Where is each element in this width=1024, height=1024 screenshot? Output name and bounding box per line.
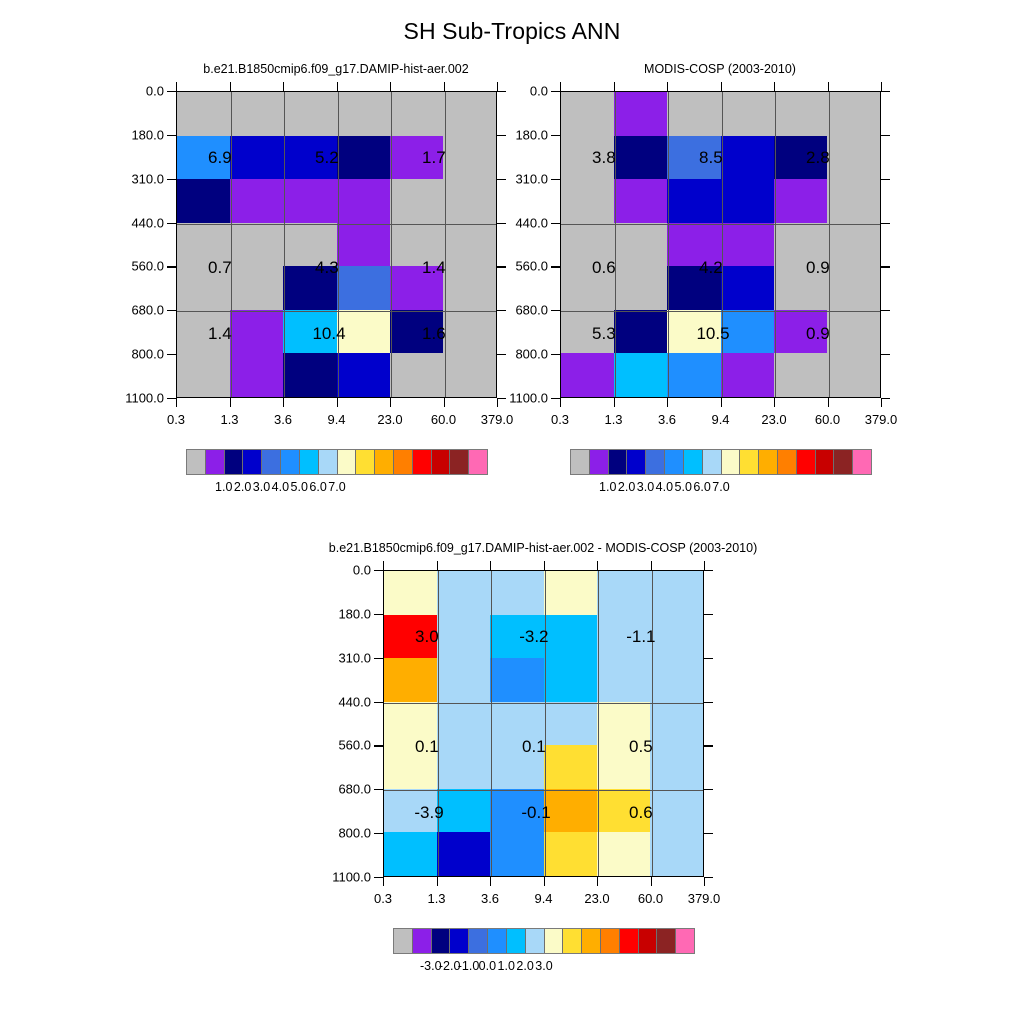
- x-axis-label: 379.0: [688, 891, 721, 906]
- x-axis-tick-top: [560, 82, 561, 91]
- x-axis-label: 23.0: [761, 412, 786, 427]
- cell-value-label: 1.4: [208, 324, 232, 344]
- cell-value-label: -1.1: [626, 627, 655, 647]
- heatmap-cell: [337, 92, 390, 136]
- y-axis-label: 440.0: [86, 215, 164, 230]
- x-axis-label: 0.3: [551, 412, 569, 427]
- x-axis-tick: [283, 398, 284, 407]
- heatmap-cell: [827, 266, 880, 310]
- x-axis-tick-top: [704, 561, 705, 570]
- colorbar-swatch-light-yellow: [545, 929, 564, 953]
- colorbar-swatch-pink: [853, 450, 871, 474]
- y-axis-tick: [167, 179, 176, 180]
- heatmap-cell: [614, 223, 667, 267]
- heatmap-cell: [490, 658, 543, 702]
- y-axis-label: 800.0: [86, 347, 164, 362]
- y-axis-tick: [374, 658, 383, 659]
- x-axis-tick-top: [437, 561, 438, 570]
- colorbar-tick-label: 3.0: [637, 480, 654, 494]
- cell-value-label: 0.5: [629, 737, 653, 757]
- x-axis-tick-top: [337, 82, 338, 91]
- x-axis-label: 23.0: [377, 412, 402, 427]
- cell-value-label: 10.4: [312, 324, 345, 344]
- x-axis-tick-top: [490, 561, 491, 570]
- y-axis-tick: [374, 745, 383, 746]
- y-axis-label: 680.0: [293, 782, 371, 797]
- x-axis-label: 1.3: [427, 891, 445, 906]
- colorbar-swatch-gray: [394, 929, 413, 953]
- colorbar-swatch-deep-sky-blue: [300, 450, 319, 474]
- y-axis-tick: [551, 179, 560, 180]
- colorbar-swatch-yellow: [563, 929, 582, 953]
- x-axis-tick-top: [721, 82, 722, 91]
- heatmap-cell: [597, 832, 650, 876]
- colorbar-swatch-pink: [469, 450, 487, 474]
- x-axis-tick-top: [667, 82, 668, 91]
- colorbar-swatch-orange: [778, 450, 797, 474]
- heatmap-cell: [721, 223, 774, 267]
- x-axis-tick: [881, 398, 882, 407]
- heatmap-cell: [721, 92, 774, 136]
- y-axis-label: 680.0: [470, 303, 548, 318]
- figure-title: SH Sub-Tropics ANN: [0, 18, 1024, 45]
- colorbar-tick-label: 2.0: [234, 480, 251, 494]
- cell-value-label: 10.5: [696, 324, 729, 344]
- x-axis-tick: [560, 398, 561, 407]
- heatmap-cell: [337, 223, 390, 267]
- y-axis-tick: [551, 354, 560, 355]
- heatmap-cell: [230, 310, 283, 354]
- colorbar-swatch-amber: [375, 450, 394, 474]
- x-axis-tick: [651, 877, 652, 886]
- y-axis-tick-inner: [704, 614, 713, 615]
- x-axis-tick: [721, 398, 722, 407]
- heatmap-cell: [230, 353, 283, 397]
- heatmap-cell: [827, 310, 880, 354]
- y-axis-label: 800.0: [293, 826, 371, 841]
- colorbar-swatch-blue: [450, 929, 469, 953]
- x-axis-tick: [614, 398, 615, 407]
- y-axis-tick: [551, 91, 560, 92]
- colorbar-swatch-brick: [657, 929, 676, 953]
- heatmap-cell: [337, 266, 390, 310]
- x-axis-label: 23.0: [584, 891, 609, 906]
- heatmap-cell: [597, 658, 650, 702]
- cell-value-label: 3.8: [592, 148, 616, 168]
- colorbar-swatch-royal-blue: [646, 450, 665, 474]
- y-axis-tick: [551, 266, 560, 267]
- heatmap-cell: [827, 92, 880, 136]
- heatmap-cell: [544, 745, 597, 789]
- heatmap-cell: [177, 179, 230, 223]
- x-axis-label: 60.0: [431, 412, 456, 427]
- heatmap-cell: [614, 92, 667, 136]
- x-axis-label: 3.6: [274, 412, 292, 427]
- colorbar-tick-label: 1.0: [498, 959, 515, 973]
- x-axis-tick: [337, 398, 338, 407]
- heatmap-cell: [827, 223, 880, 267]
- cell-value-label: 0.7: [208, 258, 232, 278]
- y-axis-label: 680.0: [86, 303, 164, 318]
- heatmap-cell: [650, 745, 703, 789]
- x-axis-tick-top: [774, 82, 775, 91]
- y-axis-tick: [167, 310, 176, 311]
- y-axis-label: 180.0: [86, 127, 164, 142]
- heatmap-cell: [230, 223, 283, 267]
- x-axis-tick-top: [230, 82, 231, 91]
- heatmap-cell: [490, 832, 543, 876]
- heatmap-cell: [384, 832, 437, 876]
- x-axis-tick-top: [651, 561, 652, 570]
- heatmap-cell: [437, 789, 490, 833]
- x-axis-label: 379.0: [865, 412, 898, 427]
- colorbar-swatch-dodger-blue: [665, 450, 684, 474]
- heatmap-cell: [390, 92, 443, 136]
- colorbar-swatch-orange: [394, 450, 413, 474]
- x-axis-tick: [176, 398, 177, 407]
- cell-value-label: 0.6: [592, 258, 616, 278]
- plot-area-model: [176, 91, 497, 398]
- colorbar-tick-label: 1.0: [215, 480, 232, 494]
- colorbar-swatch-amber: [582, 929, 601, 953]
- colorbar-swatch-pink: [676, 929, 694, 953]
- heatmap-cell: [384, 571, 437, 615]
- x-axis-tick-top: [544, 561, 545, 570]
- y-axis-label: 440.0: [470, 215, 548, 230]
- colorbar-tick-label: 6.0: [309, 480, 326, 494]
- cell-value-label: 0.1: [415, 737, 439, 757]
- cell-value-label: 0.9: [806, 258, 830, 278]
- heatmap-cell: [827, 353, 880, 397]
- colorbar-swatch-dodger-blue: [488, 929, 507, 953]
- heatmap-cell: [437, 832, 490, 876]
- colorbar-swatch-red: [620, 929, 639, 953]
- y-axis-tick-inner: [704, 702, 713, 703]
- y-axis-label: 560.0: [470, 259, 548, 274]
- y-axis-label: 1100.0: [470, 391, 548, 406]
- heatmap-cell: [437, 658, 490, 702]
- y-axis-label: 310.0: [293, 650, 371, 665]
- y-axis-tick: [551, 223, 560, 224]
- cell-value-label: 1.6: [422, 324, 446, 344]
- x-axis-tick: [444, 398, 445, 407]
- cell-value-label: 0.6: [629, 803, 653, 823]
- heatmap-cell: [544, 702, 597, 746]
- cell-value-label: 0.9: [806, 324, 830, 344]
- y-axis-label: 560.0: [293, 738, 371, 753]
- y-axis-label: 560.0: [86, 259, 164, 274]
- y-axis-label: 440.0: [293, 694, 371, 709]
- heatmap-cell: [614, 266, 667, 310]
- x-axis-tick: [490, 877, 491, 886]
- colorbar-swatch-yellow: [356, 450, 375, 474]
- heatmap-cell: [177, 92, 230, 136]
- heatmap-cell: [544, 789, 597, 833]
- colorbar-swatch-red: [413, 450, 432, 474]
- heatmap-cell: [283, 179, 336, 223]
- cell-value-label: 1.4: [422, 258, 446, 278]
- heatmap-cell: [774, 179, 827, 223]
- cell-value-label: 4.3: [315, 258, 339, 278]
- colorbar-tick-label: 2.0: [618, 480, 635, 494]
- heatmap-cell: [597, 571, 650, 615]
- colorbar-swatch-brick: [450, 450, 469, 474]
- y-axis-tick-inner: [881, 266, 890, 267]
- heatmap-cell: [230, 266, 283, 310]
- heatmap-cells-difference: [384, 571, 703, 876]
- y-axis-tick-inner: [881, 223, 890, 224]
- heatmap-cell: [667, 92, 720, 136]
- colorbar-swatch-navy: [225, 450, 244, 474]
- x-axis-label: 9.4: [534, 891, 552, 906]
- x-axis-tick-top: [597, 561, 598, 570]
- colorbar-tick-label: 6.0: [693, 480, 710, 494]
- colorbar-swatch-purple: [206, 450, 225, 474]
- heatmap-cell: [177, 353, 230, 397]
- x-axis-tick-top: [444, 82, 445, 91]
- heatmap-cell: [650, 832, 703, 876]
- heatmap-cell: [437, 571, 490, 615]
- y-axis-label: 0.0: [86, 84, 164, 99]
- heatmap-cell: [337, 179, 390, 223]
- heatmap-cell: [390, 353, 443, 397]
- y-axis-label: 800.0: [470, 347, 548, 362]
- colorbar-tick-label: 2.0: [516, 959, 533, 973]
- heatmap-cell: [230, 179, 283, 223]
- cell-value-label: -3.2: [519, 627, 548, 647]
- y-axis-tick: [374, 877, 383, 878]
- heatmap-cell: [437, 615, 490, 659]
- heatmap-cell: [721, 353, 774, 397]
- cell-value-label: 8.5: [699, 148, 723, 168]
- heatmap-cell: [614, 353, 667, 397]
- panel-title-difference: b.e21.B1850cmip6.f09_g17.DAMIP-hist-aer.…: [31, 541, 1024, 555]
- x-axis-tick: [230, 398, 231, 407]
- cell-value-label: -3.9: [414, 803, 443, 823]
- x-axis-tick: [390, 398, 391, 407]
- colorbar-swatch-dodger-blue: [281, 450, 300, 474]
- heatmap-cells-model: [177, 92, 496, 397]
- colorbar-swatch-navy: [609, 450, 628, 474]
- colorbar-swatch-dark-red: [816, 450, 835, 474]
- colorbar-swatch-light-blue: [319, 450, 338, 474]
- cell-value-label: 5.3: [592, 324, 616, 344]
- y-axis-tick-inner: [704, 745, 713, 746]
- colorbar-swatch-dark-red: [639, 929, 658, 953]
- heatmap-cell: [774, 92, 827, 136]
- x-axis-tick: [383, 877, 384, 886]
- y-axis-tick-inner: [881, 91, 890, 92]
- y-axis-tick-inner: [881, 398, 890, 399]
- colorbar-swatch-light-blue: [526, 929, 545, 953]
- cell-value-label: 1.7: [422, 148, 446, 168]
- cell-value-label: 3.0: [415, 627, 439, 647]
- colorbar-tick-label: -1.0: [458, 959, 480, 973]
- y-axis-label: 0.0: [293, 563, 371, 578]
- y-axis-tick-inner: [704, 877, 713, 878]
- colorbar-swatch-blue: [627, 450, 646, 474]
- x-axis-label: 3.6: [658, 412, 676, 427]
- y-axis-label: 180.0: [470, 127, 548, 142]
- x-axis-tick-top: [390, 82, 391, 91]
- colorbar-difference: [393, 928, 695, 954]
- heatmap-cell: [650, 571, 703, 615]
- colorbar-model: [186, 449, 488, 475]
- x-axis-tick-top: [176, 82, 177, 91]
- heatmap-cell: [283, 353, 336, 397]
- y-axis-label: 180.0: [293, 606, 371, 621]
- heatmap-cell: [561, 179, 614, 223]
- colorbar-swatch-royal-blue: [262, 450, 281, 474]
- heatmap-cell: [544, 571, 597, 615]
- x-axis-tick: [437, 877, 438, 886]
- heatmap-cell: [827, 136, 880, 180]
- y-axis-tick: [167, 91, 176, 92]
- x-axis-tick-top: [383, 561, 384, 570]
- x-axis-tick: [704, 877, 705, 886]
- heatmap-cell: [384, 658, 437, 702]
- y-axis-tick-inner: [704, 789, 713, 790]
- x-axis-tick: [774, 398, 775, 407]
- heatmap-cell: [561, 92, 614, 136]
- heatmap-cell: [544, 615, 597, 659]
- y-axis-tick: [374, 614, 383, 615]
- colorbar-swatch-gray: [571, 450, 590, 474]
- x-axis-tick-top: [283, 82, 284, 91]
- y-axis-tick: [551, 398, 560, 399]
- heatmap-cell: [283, 92, 336, 136]
- colorbar-swatch-red: [797, 450, 816, 474]
- colorbar-swatch-orange: [601, 929, 620, 953]
- x-axis-label: 0.3: [374, 891, 392, 906]
- colorbar-tick-label: 7.0: [328, 480, 345, 494]
- colorbar-tick-label: 5.0: [675, 480, 692, 494]
- colorbar-tick-label: 4.0: [272, 480, 289, 494]
- colorbar-swatch-dark-red: [432, 450, 451, 474]
- y-axis-tick: [374, 702, 383, 703]
- colorbar-swatch-gray: [187, 450, 206, 474]
- y-axis-tick-inner: [704, 570, 713, 571]
- colorbar-tick-label: 5.0: [291, 480, 308, 494]
- heatmap-cell: [337, 353, 390, 397]
- heatmap-cell: [337, 136, 390, 180]
- cell-value-label: 5.2: [315, 148, 339, 168]
- heatmap-cell: [390, 179, 443, 223]
- heatmap-cell: [667, 179, 720, 223]
- y-axis-label: 310.0: [86, 171, 164, 186]
- colorbar-swatch-deep-sky-blue: [684, 450, 703, 474]
- heatmap-cell: [490, 571, 543, 615]
- heatmap-cell: [437, 745, 490, 789]
- heatmap-cell: [561, 353, 614, 397]
- heatmap-cell: [230, 92, 283, 136]
- colorbar-swatch-deep-sky-blue: [507, 929, 526, 953]
- heatmap-cell: [721, 266, 774, 310]
- cell-value-label: 2.8: [806, 148, 830, 168]
- y-axis-tick: [167, 135, 176, 136]
- y-axis-label: 1100.0: [86, 391, 164, 406]
- colorbar-tick-label: 3.0: [253, 480, 270, 494]
- y-axis-tick-inner: [881, 354, 890, 355]
- x-axis-label: 1.3: [604, 412, 622, 427]
- y-axis-tick-inner: [881, 179, 890, 180]
- colorbar-swatch-light-yellow: [338, 450, 357, 474]
- colorbar-swatch-light-blue: [703, 450, 722, 474]
- x-axis-label: 1.3: [220, 412, 238, 427]
- heatmap-cell: [721, 179, 774, 223]
- y-axis-tick: [551, 135, 560, 136]
- plot-area-obs: [560, 91, 881, 398]
- colorbar-swatch-light-yellow: [722, 450, 741, 474]
- colorbar-tick-label: 7.0: [712, 480, 729, 494]
- colorbar-tick-label: 3.0: [535, 959, 552, 973]
- x-axis-label: 3.6: [481, 891, 499, 906]
- y-axis-tick-inner: [881, 135, 890, 136]
- heatmap-cell: [650, 615, 703, 659]
- x-axis-label: 9.4: [327, 412, 345, 427]
- y-axis-tick: [551, 310, 560, 311]
- heatmap-cell: [650, 789, 703, 833]
- x-axis-label: 60.0: [638, 891, 663, 906]
- x-axis-label: 9.4: [711, 412, 729, 427]
- y-axis-tick: [167, 266, 176, 267]
- y-axis-label: 310.0: [470, 171, 548, 186]
- x-axis-label: 379.0: [481, 412, 514, 427]
- heatmap-cell: [614, 179, 667, 223]
- cell-value-label: 0.1: [522, 737, 546, 757]
- heatmap-cell: [614, 310, 667, 354]
- colorbar-swatch-navy: [432, 929, 451, 953]
- x-axis-tick: [828, 398, 829, 407]
- plot-area-difference: [383, 570, 704, 877]
- y-axis-tick: [374, 789, 383, 790]
- y-axis-tick: [374, 570, 383, 571]
- heatmap-cell: [650, 702, 703, 746]
- y-axis-tick: [374, 833, 383, 834]
- y-axis-label: 0.0: [470, 84, 548, 99]
- colorbar-obs: [570, 449, 872, 475]
- y-axis-tick-inner: [704, 833, 713, 834]
- heatmap-cell: [827, 179, 880, 223]
- y-axis-tick-inner: [881, 310, 890, 311]
- y-axis-tick: [167, 223, 176, 224]
- cell-value-label: 6.9: [208, 148, 232, 168]
- x-axis-label: 0.3: [167, 412, 185, 427]
- y-axis-label: 1100.0: [293, 870, 371, 885]
- heatmap-cell: [614, 136, 667, 180]
- x-axis-tick-top: [614, 82, 615, 91]
- heatmap-cell: [721, 136, 774, 180]
- heatmap-cell: [667, 353, 720, 397]
- heatmap-cell: [650, 658, 703, 702]
- colorbar-swatch-yellow: [740, 450, 759, 474]
- x-axis-label: 60.0: [815, 412, 840, 427]
- panel-title-obs: MODIS-COSP (2003-2010): [208, 62, 1024, 76]
- x-axis-tick-top: [881, 82, 882, 91]
- cell-value-label: -0.1: [521, 803, 550, 823]
- heatmap-cell: [230, 136, 283, 180]
- heatmap-cell: [774, 353, 827, 397]
- heatmap-cells-obs: [561, 92, 880, 397]
- x-axis-tick-top: [828, 82, 829, 91]
- colorbar-swatch-royal-blue: [469, 929, 488, 953]
- y-axis-tick: [167, 398, 176, 399]
- colorbar-tick-label: 1.0: [599, 480, 616, 494]
- heatmap-cell: [544, 658, 597, 702]
- heatmap-cell: [437, 702, 490, 746]
- y-axis-tick-inner: [704, 658, 713, 659]
- cell-value-label: 4.2: [699, 258, 723, 278]
